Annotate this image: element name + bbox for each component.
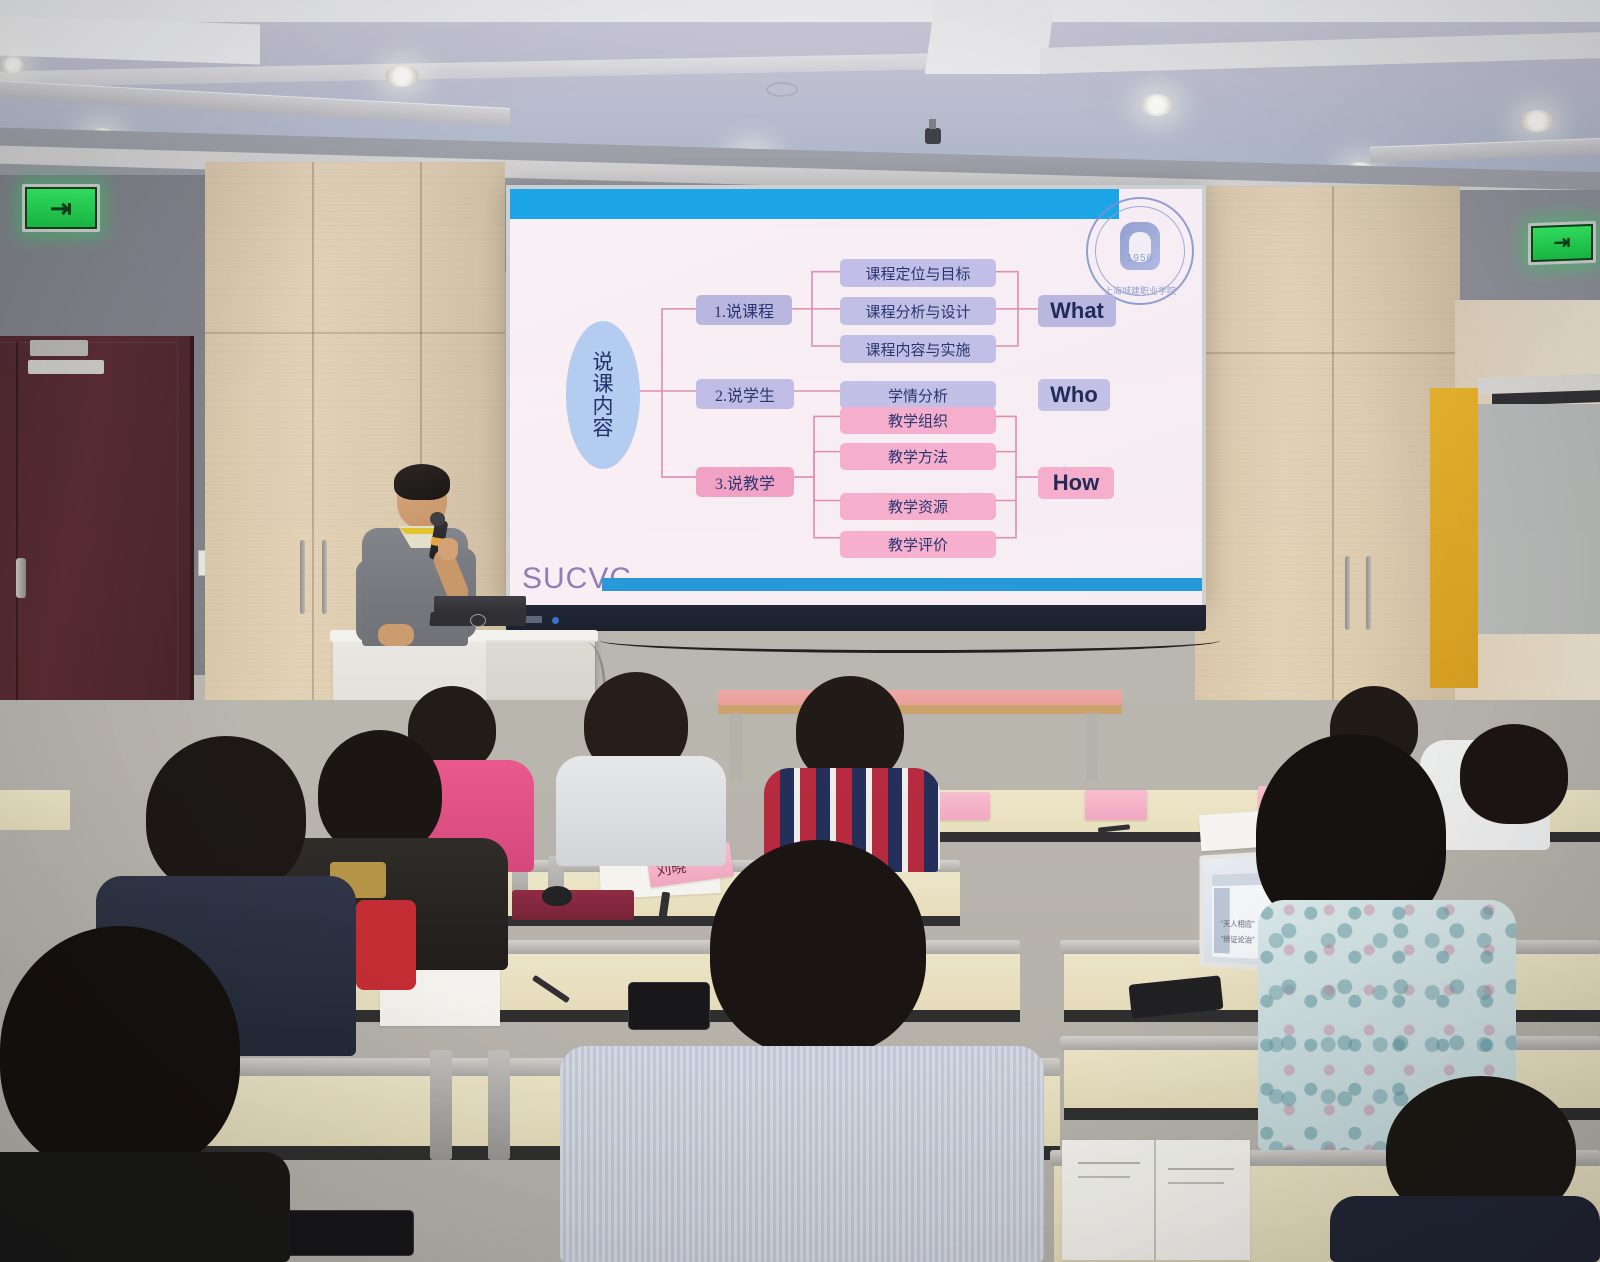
document-text-line-1: “天人相应” bbox=[1221, 919, 1255, 931]
name-card bbox=[1085, 790, 1147, 820]
side-table-top bbox=[718, 690, 1122, 706]
whiteboard-surface bbox=[1478, 404, 1600, 634]
root-char: 容 bbox=[593, 417, 614, 439]
branch-label-3: 3.说教学 bbox=[696, 467, 794, 497]
person-head bbox=[710, 840, 926, 1056]
ceiling-soffit-center bbox=[925, 0, 1055, 74]
presenter-hair bbox=[394, 464, 450, 500]
emergency-exit-sign-left: ⇥ bbox=[22, 184, 100, 232]
question-word-what: What bbox=[1038, 295, 1116, 327]
person-torso bbox=[560, 1046, 1044, 1262]
desk-surface bbox=[0, 790, 70, 830]
question-word-who: Who bbox=[1038, 379, 1110, 411]
branch-2-child-1: 学情分析 bbox=[840, 381, 996, 409]
mindmap-root-node: 说 课 内 容 bbox=[566, 321, 640, 469]
microphone-head bbox=[430, 512, 445, 526]
notebook-rule bbox=[1168, 1182, 1224, 1184]
ceiling-downlight bbox=[0, 56, 26, 74]
branch-3-child-2: 教学方法 bbox=[840, 443, 996, 470]
side-table-leg bbox=[730, 713, 742, 779]
question-word-how: How bbox=[1038, 467, 1114, 499]
person-torso bbox=[0, 1152, 290, 1262]
emergency-exit-sign-right: ⇥ bbox=[1528, 221, 1596, 265]
computer-mouse bbox=[542, 886, 572, 906]
door-handle[interactable] bbox=[16, 558, 26, 598]
branch-3-child-3: 教学资源 bbox=[840, 493, 996, 520]
display-frame: 1956 上海城建职业学院 bbox=[506, 185, 1206, 609]
cabinet-seam bbox=[1195, 352, 1460, 354]
cabinet-handle[interactable] bbox=[1345, 556, 1350, 630]
cabinet-handle[interactable] bbox=[1366, 556, 1371, 630]
smartphone[interactable] bbox=[272, 1210, 414, 1256]
root-char: 内 bbox=[593, 395, 614, 417]
ceiling-downlight bbox=[1140, 94, 1174, 116]
ceiling-downlight bbox=[1520, 110, 1554, 132]
projector-mount bbox=[925, 128, 941, 144]
root-char: 课 bbox=[593, 373, 614, 395]
person-torso bbox=[1330, 1196, 1600, 1262]
branch-3-child-1: 教学组织 bbox=[840, 407, 996, 434]
person-head bbox=[146, 736, 306, 896]
notebook-spine bbox=[1154, 1140, 1156, 1260]
person-head bbox=[1460, 724, 1568, 824]
branch-1-child-3: 课程内容与实施 bbox=[840, 335, 996, 363]
desk-bracket bbox=[430, 1050, 452, 1160]
ceiling-downlight bbox=[385, 65, 419, 87]
exit-running-man-icon: ⇥ bbox=[1554, 233, 1571, 254]
branch-1-child-1: 课程定位与目标 bbox=[840, 259, 996, 287]
projection-display: 1956 上海城建职业学院 bbox=[506, 185, 1206, 609]
notebook-rule bbox=[1168, 1168, 1234, 1170]
side-table-leg bbox=[1086, 713, 1098, 781]
cabinet-handle[interactable] bbox=[300, 540, 305, 614]
shirt-accent bbox=[356, 900, 416, 990]
mindmap: 说 课 内 容 1.说课程 课程定位与目标 课程分析与设计 课程内容与实施 Wh… bbox=[510, 215, 1202, 567]
smartphone[interactable] bbox=[628, 982, 710, 1030]
branch-3-child-4: 教学评价 bbox=[840, 531, 996, 558]
slide-canvas: 1956 上海城建职业学院 bbox=[510, 189, 1202, 605]
branch-label-1: 1.说课程 bbox=[696, 295, 792, 325]
door-closer-arm bbox=[28, 360, 104, 374]
cabinet-handle[interactable] bbox=[322, 540, 327, 614]
ceiling-beam-top bbox=[0, 0, 1600, 22]
person-head bbox=[0, 926, 240, 1176]
smoke-detector bbox=[766, 82, 798, 97]
root-char: 说 bbox=[593, 351, 614, 373]
display-cable bbox=[600, 628, 1220, 653]
branch-1-child-2: 课程分析与设计 bbox=[840, 297, 996, 325]
person-torso bbox=[556, 756, 726, 866]
classroom-photo: ⇥ ⇥ 1956 bbox=[0, 0, 1600, 1262]
document-text-line-2: “辨证论治” bbox=[1221, 934, 1255, 947]
presenter-hand bbox=[438, 538, 458, 560]
cabinet-seam bbox=[312, 162, 314, 722]
desk-bracket bbox=[488, 1050, 510, 1160]
display-power-led bbox=[552, 617, 559, 624]
cabinet-seam bbox=[1332, 186, 1334, 756]
notebook bbox=[512, 890, 634, 920]
notebook-rule bbox=[1078, 1162, 1140, 1164]
branch-label-2: 2.说学生 bbox=[696, 379, 794, 409]
hp-logo-icon bbox=[470, 614, 486, 627]
notebook-rule bbox=[1078, 1176, 1130, 1178]
slide-bottom-bar bbox=[602, 578, 1202, 591]
door-closer-bracket bbox=[30, 340, 88, 356]
cabinet-seam bbox=[205, 332, 505, 334]
side-table-edge bbox=[718, 705, 1122, 714]
wood-cabinet-right bbox=[1195, 186, 1460, 756]
open-notebook bbox=[1062, 1140, 1250, 1260]
yellow-wall-panel bbox=[1430, 388, 1478, 688]
exit-running-man-icon: ⇥ bbox=[50, 195, 72, 221]
presenter-left-hand bbox=[378, 624, 414, 646]
